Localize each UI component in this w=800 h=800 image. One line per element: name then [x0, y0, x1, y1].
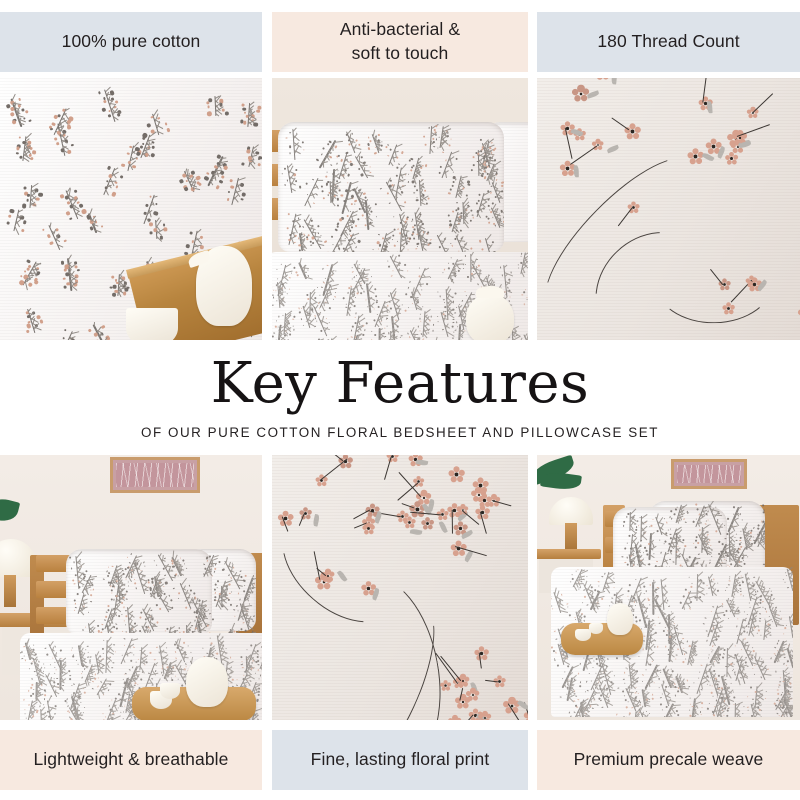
- floral-sprig: [223, 175, 248, 206]
- top-label-1-text: 100% pure cotton: [62, 30, 201, 54]
- teapot-lid: [476, 286, 504, 298]
- top-photo-row: [0, 78, 800, 340]
- leaf-icon: [707, 102, 712, 114]
- photo-gap: [528, 78, 537, 340]
- floral-sprig: [455, 202, 472, 225]
- floral-sprig: [282, 128, 306, 160]
- top-label-row: 100% pure cotton Anti-bacterial & soft t…: [0, 12, 800, 72]
- stem-line: [440, 655, 461, 681]
- key-features-heading-block: Key Features OF OUR PURE COTTON FLORAL B…: [0, 340, 800, 455]
- blossom-icon: [594, 78, 613, 82]
- photo-bedroom-right: [537, 455, 800, 720]
- top-label-2: Anti-bacterial & soft to touch: [272, 12, 528, 72]
- floral-sprig: [575, 701, 590, 717]
- blossom-icon: [722, 303, 734, 315]
- floral-sprig: [757, 619, 773, 640]
- stem-line: [752, 93, 774, 114]
- floral-sprig: [149, 220, 164, 240]
- floral-sprig: [475, 235, 504, 252]
- floral-sprig: [1, 95, 31, 130]
- infographic-page: 100% pure cotton Anti-bacterial & soft t…: [0, 0, 800, 800]
- floral-sprig: [215, 586, 230, 607]
- blossom-icon: [321, 568, 336, 583]
- leaf-icon: [574, 165, 579, 177]
- floral-sprig: [702, 575, 720, 598]
- top-label-3: 180 Thread Count: [537, 12, 800, 72]
- floral-sprig: [366, 132, 386, 155]
- photo-pillowcase: [272, 78, 528, 340]
- floral-sprig: [177, 167, 201, 194]
- floral-sprig: [780, 567, 793, 593]
- nightstand: [537, 549, 601, 559]
- floral-sprig: [384, 331, 398, 340]
- blossom-cluster: [272, 455, 528, 720]
- lamp-base: [4, 575, 16, 607]
- floral-sprig: [14, 257, 44, 290]
- floral-sprig: [110, 273, 127, 296]
- blossom-icon: [447, 464, 468, 485]
- floral-sprig: [410, 180, 430, 207]
- blossom-icon: [477, 493, 492, 508]
- blossom-icon: [622, 121, 643, 142]
- floral-sprig: [405, 156, 426, 181]
- floral-sprig: [6, 208, 26, 233]
- photo-gap: [262, 455, 272, 720]
- floral-sprig: [83, 320, 118, 340]
- floral-sprig: [356, 200, 379, 231]
- floral-sprig: [448, 174, 469, 200]
- bottom-label-1: Lightweight & breathable: [0, 730, 262, 790]
- teacup: [160, 683, 180, 699]
- top-label-3-text: 180 Thread Count: [597, 30, 739, 54]
- floral-sprig: [272, 325, 290, 340]
- floral-sprig: [521, 285, 528, 308]
- blossom-icon: [363, 523, 375, 535]
- floral-sprig: [47, 122, 77, 159]
- floral-sprig: [596, 570, 616, 593]
- pillow-floral-print: [278, 122, 504, 252]
- label-gap: [262, 12, 272, 72]
- teapot: [466, 294, 514, 340]
- photo-bedroom-left: [0, 455, 262, 720]
- pillow-floral-print: [66, 549, 256, 635]
- teacup: [126, 308, 178, 340]
- teacup: [589, 623, 603, 634]
- lamp-base: [565, 523, 577, 551]
- photo-print-macro: [272, 455, 528, 720]
- floral-sprig: [208, 95, 223, 116]
- floral-sprig: [14, 135, 34, 162]
- floral-sprig: [382, 252, 410, 282]
- floral-sprig: [669, 503, 688, 525]
- leaf-icon: [439, 521, 448, 534]
- teapot: [607, 603, 633, 635]
- floral-sprig: [278, 164, 301, 195]
- bottom-label-3: Premium precale weave: [537, 730, 800, 790]
- floral-sprig: [304, 303, 338, 340]
- blossom-icon: [473, 646, 490, 663]
- photo-blossom-macro: [537, 78, 800, 340]
- blossom-icon: [448, 715, 461, 720]
- wall-art-canvas: [116, 463, 194, 487]
- floral-sprig: [239, 656, 254, 677]
- vine-stem: [502, 548, 528, 701]
- top-label-2-text: Anti-bacterial & soft to touch: [340, 18, 460, 65]
- floral-sprig: [22, 184, 40, 209]
- blossom-icon: [726, 152, 739, 165]
- page-subtitle: OF OUR PURE COTTON FLORAL BEDSHEET AND P…: [141, 425, 659, 440]
- wall-art-frame: [110, 457, 200, 493]
- floral-sprig: [19, 307, 43, 336]
- bottom-photo-row: [0, 455, 800, 720]
- wall-art-frame: [671, 459, 747, 489]
- label-gap: [528, 12, 537, 72]
- blossom-icon: [441, 681, 450, 690]
- floral-sprig: [240, 102, 258, 127]
- photo-gap: [262, 78, 272, 340]
- floral-sprig: [432, 125, 451, 149]
- floral-sprig: [272, 281, 289, 308]
- bottom-label-2-text: Fine, lasting floral print: [311, 748, 490, 772]
- floral-sprig: [95, 165, 124, 199]
- teacup: [575, 629, 591, 641]
- label-gap: [528, 730, 537, 790]
- floral-sprig: [48, 326, 84, 340]
- floral-sprig: [681, 697, 705, 717]
- blossom-icon: [797, 305, 800, 323]
- floral-sprig: [93, 86, 126, 125]
- floral-sprig: [153, 592, 175, 617]
- floral-sprig: [242, 144, 261, 167]
- photo-gap: [528, 455, 537, 720]
- blossom-icon: [454, 693, 472, 711]
- stem-line: [319, 459, 347, 482]
- floral-sprig: [405, 290, 423, 312]
- leaf-icon: [607, 145, 620, 153]
- blossom-icon: [478, 711, 492, 720]
- leaf-icon: [611, 78, 617, 85]
- bottom-label-3-text: Premium precale weave: [574, 748, 764, 772]
- teapot: [186, 657, 228, 707]
- bottom-label-row: Lightweight & breathable Fine, lasting f…: [0, 730, 800, 790]
- floral-sprig: [782, 615, 793, 639]
- top-label-1: 100% pure cotton: [0, 12, 262, 72]
- floral-sprig: [513, 252, 528, 276]
- floral-sprig: [40, 221, 68, 254]
- bottom-label-2: Fine, lasting floral print: [272, 730, 528, 790]
- wall-art-canvas: [677, 465, 741, 483]
- blossom-icon: [404, 517, 415, 528]
- floral-sprig: [108, 575, 129, 604]
- floral-sprig: [82, 211, 103, 236]
- floral-sprig: [71, 593, 90, 617]
- photo-sheet-closeup: [0, 78, 262, 340]
- blossom-cluster: [537, 78, 800, 340]
- floral-sprig: [551, 590, 568, 616]
- floral-sprig: [293, 260, 312, 282]
- floral-sprig: [56, 257, 82, 292]
- floral-sprig: [735, 527, 754, 551]
- floral-sprig: [485, 204, 504, 230]
- page-title: Key Features: [211, 356, 589, 412]
- bottom-label-1-text: Lightweight & breathable: [33, 748, 228, 772]
- label-gap: [262, 730, 272, 790]
